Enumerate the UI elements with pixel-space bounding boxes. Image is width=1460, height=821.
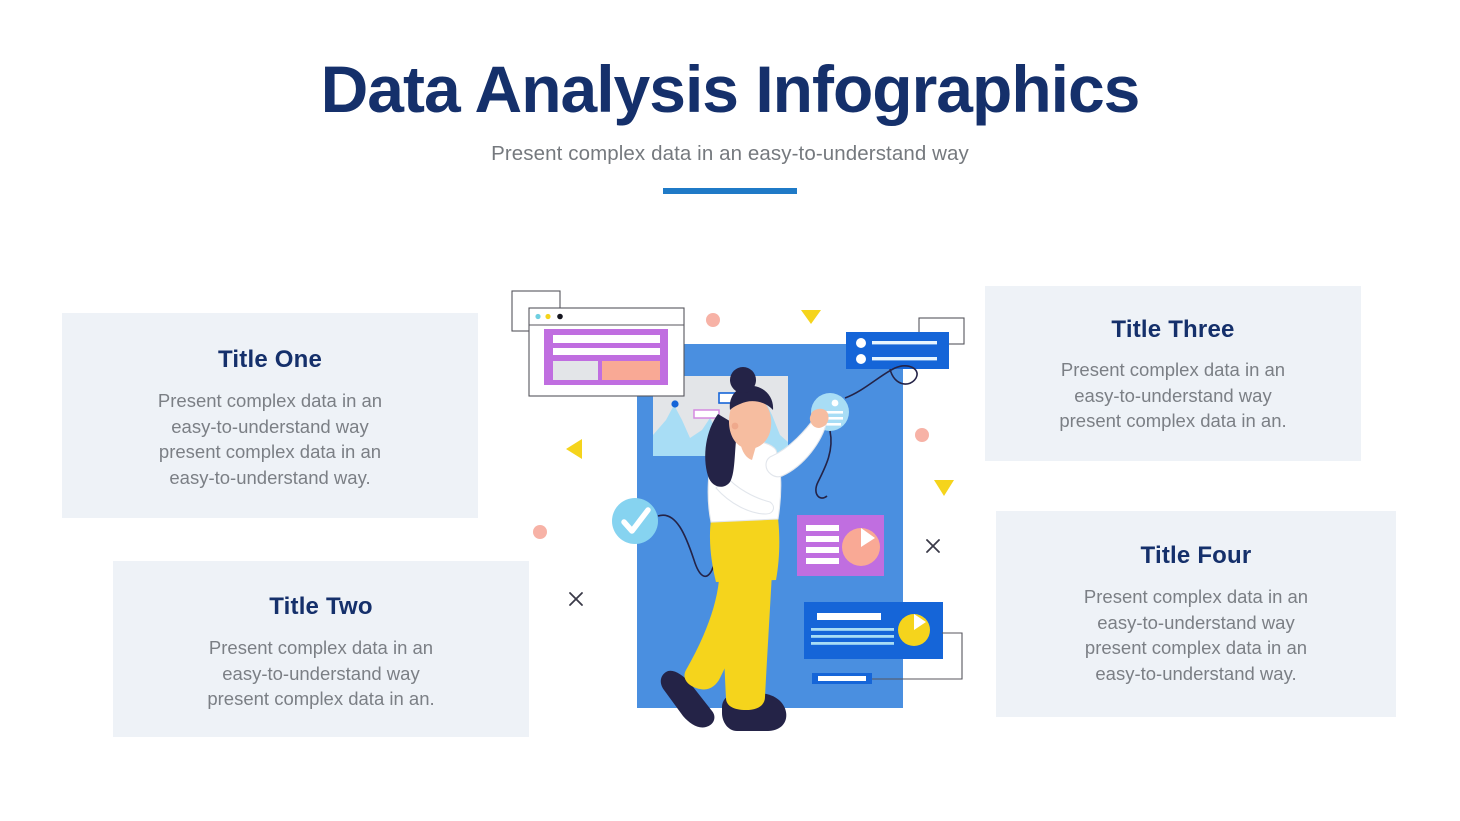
chart-peak-dot-left: [671, 400, 678, 407]
bullet-list-card: [846, 332, 949, 369]
browser-window-mockup: [529, 308, 684, 396]
card-one-body: Present complex data in an easy-to-under…: [80, 388, 460, 490]
card-two-body: Present complex data in an easy-to-under…: [131, 635, 511, 712]
yellow-triangle-top: [801, 310, 821, 324]
pink-dot-right: [915, 428, 929, 442]
card-four-body: Present complex data in an easy-to-under…: [1014, 584, 1378, 686]
x-mark-left: [570, 593, 582, 605]
info-card-one[interactable]: Title One Present complex data in an eas…: [62, 313, 478, 518]
card-three-title: Title Three: [1003, 316, 1343, 344]
title-accent-bar: [663, 188, 797, 194]
pie-chart-card-purple: [797, 515, 884, 576]
pink-dot-left: [533, 525, 547, 539]
browser-dot-black: [557, 314, 563, 320]
info-card-four[interactable]: Title Four Present complex data in an ea…: [996, 511, 1396, 717]
card-three-body: Present complex data in an easy-to-under…: [1003, 357, 1343, 434]
chart-label-pink: [694, 410, 719, 418]
header: Data Analysis Infographics Present compl…: [0, 0, 1460, 194]
browser-block-gray: [553, 361, 598, 380]
browser-dot-yellow: [545, 314, 550, 319]
card-one-title: Title One: [80, 346, 460, 374]
pink-dot-top: [706, 313, 720, 327]
x-mark-right: [927, 540, 939, 552]
card-two-title: Title Two: [131, 593, 511, 621]
browser-dot-cyan: [535, 314, 540, 319]
browser-block-salmon: [602, 361, 660, 380]
page-subtitle: Present complex data in an easy-to-under…: [0, 124, 1460, 166]
yellow-triangle-left: [566, 439, 582, 459]
checkmark-badge: [612, 498, 658, 544]
data-analysis-illustration: [490, 270, 990, 780]
page-title: Data Analysis Infographics: [0, 0, 1460, 124]
card-four-title: Title Four: [1014, 542, 1378, 570]
pie-chart-card-blue: [804, 602, 943, 659]
info-card-three[interactable]: Title Three Present complex data in an e…: [985, 286, 1361, 461]
yellow-triangle-right: [934, 480, 954, 496]
hair-bun: [730, 367, 756, 393]
info-card-two[interactable]: Title Two Present complex data in an eas…: [113, 561, 529, 737]
